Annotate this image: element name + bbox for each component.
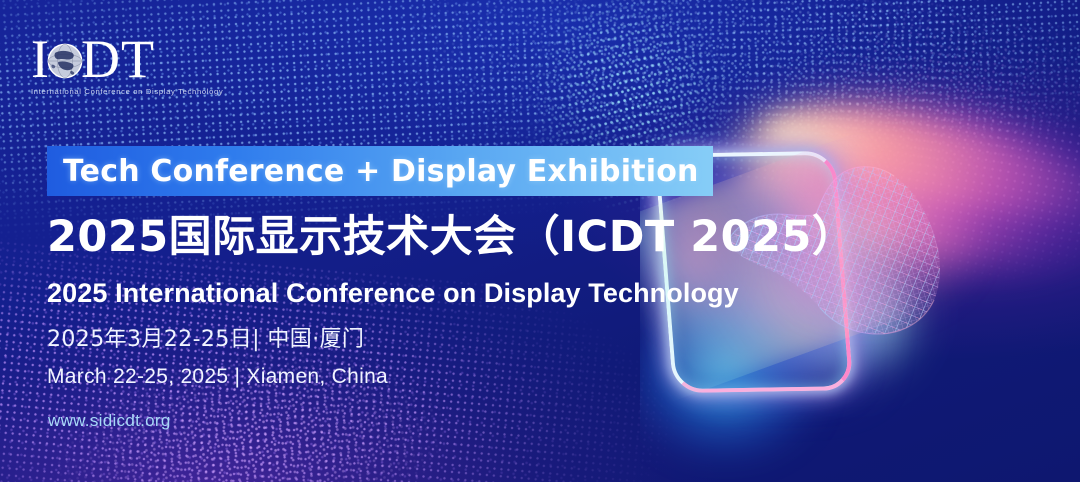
date-venue-chinese: 2025年3月22-25日| 中国·厦门 (47, 326, 364, 354)
icdt-logo[interactable]: I DT International Conference on Display… (31, 33, 209, 111)
globe-icon (47, 43, 83, 79)
page-title-english: 2025 International Conference on Display… (47, 277, 739, 309)
tagline-ribbon: Tech Conference + Display Exhibition (47, 146, 713, 196)
icdt-logo-mark: I DT (31, 33, 209, 85)
website-link[interactable]: www.sidicdt.org (48, 410, 171, 432)
logo-letters-dt: DT (81, 33, 155, 85)
tagline-text: Tech Conference + Display Exhibition (63, 154, 699, 189)
page-title-chinese: 2025国际显示技术大会（ICDT 2025） (47, 211, 855, 263)
date-venue-english: March 22-25, 2025 | Xiamen, China (47, 363, 388, 391)
icdt-2025-conference-banner: I DT International Conference on Display… (0, 0, 1080, 482)
